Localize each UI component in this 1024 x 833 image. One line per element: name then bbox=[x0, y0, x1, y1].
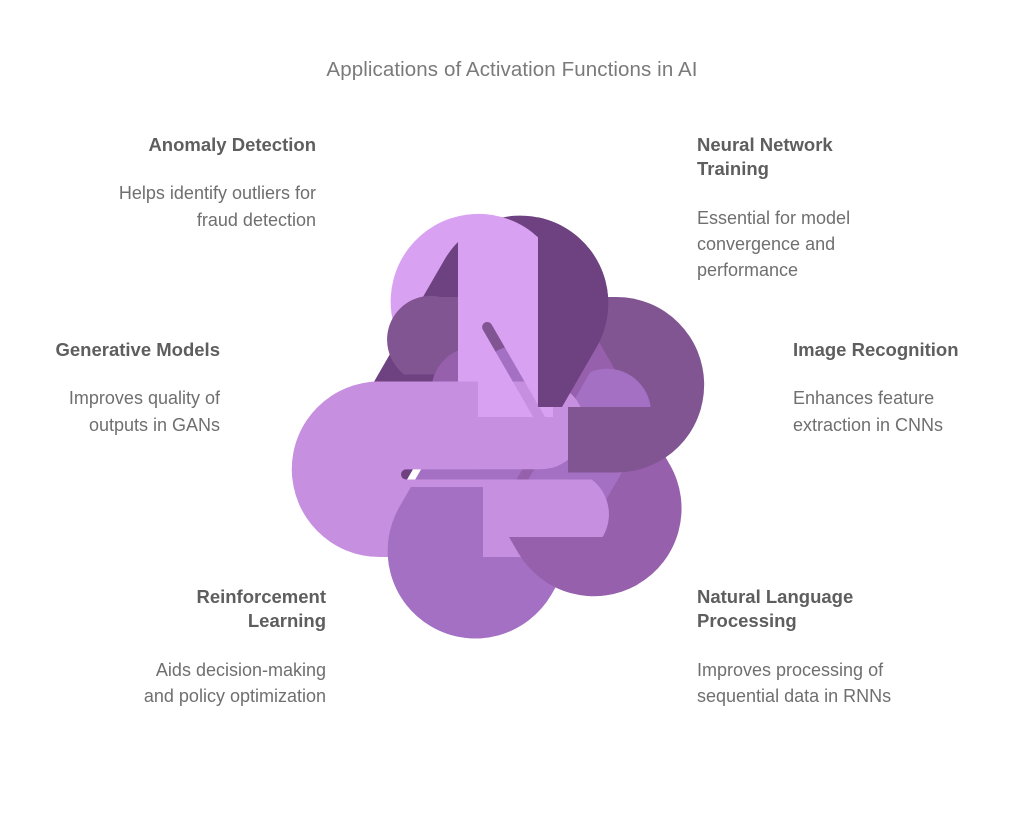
node-heading: Image Recognition bbox=[793, 338, 998, 362]
node-description: Improves quality of outputs in GANs bbox=[33, 362, 220, 437]
node-description: Enhances feature extraction in CNNs bbox=[793, 362, 998, 437]
page-title: Applications of Activation Functions in … bbox=[0, 58, 1024, 82]
node-anomaly-detection: Anomaly Detection Helps identify outlier… bbox=[105, 133, 316, 233]
node-description: Improves processing of sequential data i… bbox=[697, 634, 897, 709]
node-heading: Reinforcement Learning bbox=[140, 585, 326, 634]
node-reinforcement-learning: Reinforcement Learning Aids decision-mak… bbox=[140, 585, 326, 709]
node-description: Helps identify outliers for fraud detect… bbox=[105, 157, 316, 232]
infographic-canvas: Applications of Activation Functions in … bbox=[0, 0, 1024, 833]
node-generative-models: Generative Models Improves quality of ou… bbox=[33, 338, 220, 438]
node-heading: Generative Models bbox=[33, 338, 220, 362]
node-heading: Natural Language Processing bbox=[697, 585, 897, 634]
node-neural-network-training: Neural Network Training Essential for mo… bbox=[697, 133, 897, 283]
node-description: Aids decision-making and policy optimiza… bbox=[140, 634, 326, 709]
node-heading: Anomaly Detection bbox=[105, 133, 316, 157]
node-description: Essential for model convergence and perf… bbox=[697, 182, 897, 283]
node-natural-language-processing: Natural Language Processing Improves pro… bbox=[697, 585, 897, 709]
node-image-recognition: Image Recognition Enhances feature extra… bbox=[793, 338, 998, 438]
node-heading: Neural Network Training bbox=[697, 133, 897, 182]
